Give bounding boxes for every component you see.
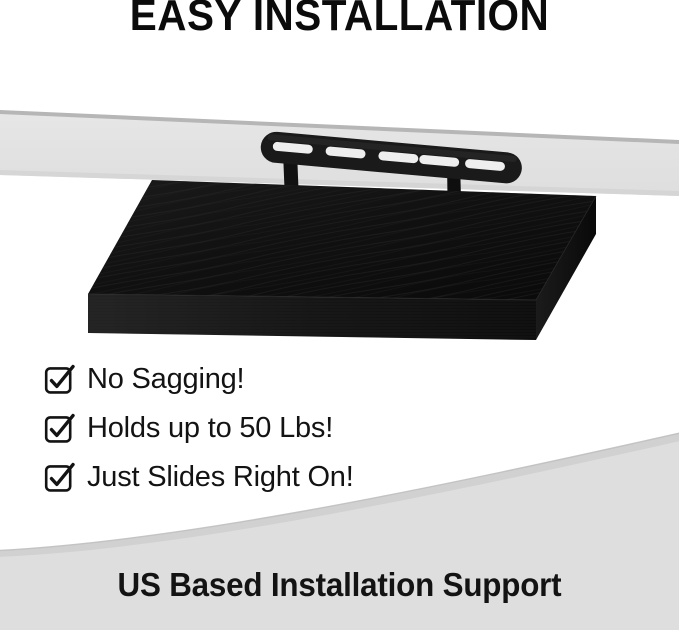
list-item: No Sagging! <box>44 356 604 403</box>
shelf-front-grain <box>88 294 536 340</box>
checkbox-checked-icon <box>44 365 74 395</box>
list-item-label: No Sagging! <box>87 365 244 394</box>
page-title: EASY INSTALLATION <box>27 0 652 40</box>
shelf-illustration <box>0 48 679 368</box>
footer-text: US Based Installation Support <box>17 566 662 604</box>
product-photo <box>0 48 679 368</box>
product-marketing-image: EASY INSTALLATION <box>0 0 679 630</box>
shelf-woodgrain <box>88 180 596 300</box>
floating-shelf <box>88 180 596 340</box>
